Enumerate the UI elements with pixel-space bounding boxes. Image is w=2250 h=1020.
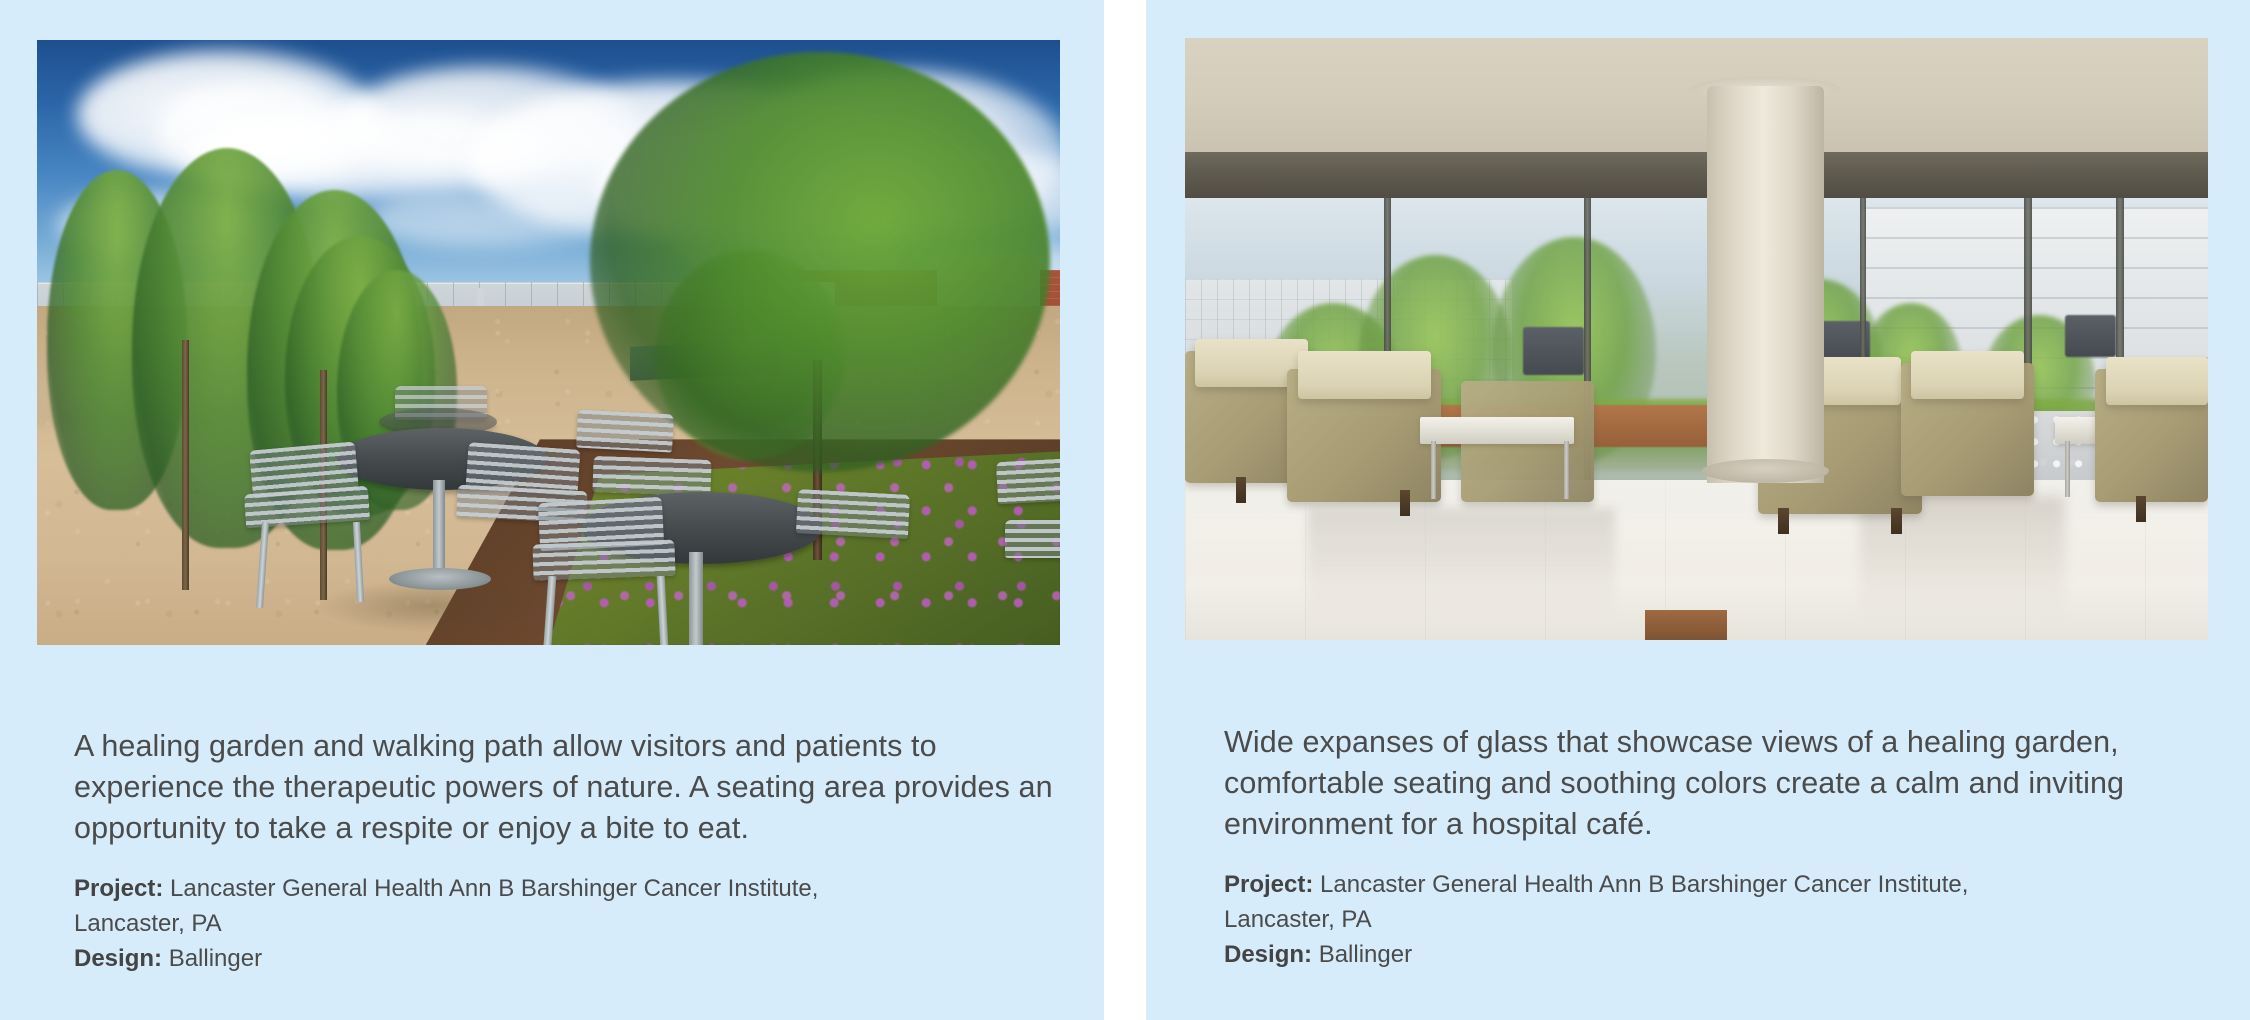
project-label: Project: — [74, 875, 163, 902]
chair-leg — [1236, 477, 1246, 503]
side-table — [1420, 417, 1573, 444]
patio-chair — [592, 456, 711, 496]
photo-healing-garden — [37, 40, 1060, 645]
column-gutter — [1104, 0, 1146, 1020]
table-base — [389, 568, 491, 590]
project-row: Project: Lancaster General Health Ann B … — [74, 871, 1074, 906]
outdoor-chair — [1523, 327, 1584, 375]
design-label: Design: — [1224, 941, 1312, 968]
chair-leg — [1778, 508, 1789, 534]
ceiling — [1185, 38, 2208, 152]
project-credits: Project: Lancaster General Health Ann B … — [74, 871, 1074, 976]
panel-left-inner: A healing garden and walking path allow … — [37, 40, 1060, 645]
project-value: Lancaster General Health Ann B Barshinge… — [170, 875, 818, 902]
design-label: Design: — [74, 945, 162, 972]
soffit-beam — [1185, 152, 2208, 197]
tree — [590, 52, 1050, 472]
caption-right: Wide expanses of glass that showcase vie… — [1224, 722, 2224, 972]
description-text: Wide expanses of glass that showcase vie… — [1224, 722, 2224, 845]
floor-reflection — [1308, 508, 1615, 616]
project-label: Project: — [1224, 871, 1313, 898]
project-value: Lancaster General Health Ann B Barshinge… — [1320, 871, 1968, 898]
structural-column — [1707, 86, 1825, 483]
armchair-cushion — [1911, 351, 2024, 399]
chair-leg — [2136, 496, 2146, 522]
description-text: A healing garden and walking path allow … — [74, 726, 1074, 849]
patio-chair — [796, 489, 910, 539]
table-leg — [1564, 441, 1569, 499]
outdoor-chair — [2065, 315, 2116, 357]
table-pedestal — [689, 552, 703, 645]
project-row: Project: Lancaster General Health Ann B … — [1224, 867, 2224, 902]
panel-right: Wide expanses of glass that showcase vie… — [1146, 0, 2250, 1020]
panel-left: A healing garden and walking path allow … — [0, 0, 1104, 1020]
patio-chair — [1005, 520, 1060, 558]
design-value: Ballinger — [1319, 941, 1412, 968]
table-leg — [1431, 441, 1436, 499]
project-location: Lancaster, PA — [1224, 902, 2224, 937]
project-credits: Project: Lancaster General Health Ann B … — [1224, 867, 2224, 972]
patio-chair — [996, 458, 1060, 504]
design-row: Design: Ballinger — [1224, 937, 2224, 972]
chair-leg — [1891, 508, 1902, 534]
table-leg — [2065, 441, 2070, 497]
patio-chair — [576, 410, 674, 453]
design-value: Ballinger — [169, 945, 262, 972]
caption-left: A healing garden and walking path allow … — [74, 726, 1074, 976]
panel-right-inner: Wide expanses of glass that showcase vie… — [1185, 38, 2208, 640]
project-location: Lancaster, PA — [74, 906, 1074, 941]
armchair-cushion — [1298, 351, 1431, 399]
floor-wood-inlay — [1645, 610, 1727, 640]
table-pedestal — [433, 480, 445, 578]
design-row: Design: Ballinger — [74, 941, 1074, 976]
patio-chair-seat — [532, 540, 675, 581]
chair-leg — [1400, 490, 1410, 516]
photo-hospital-cafe — [1185, 38, 2208, 640]
two-column-photo-caption-board: A healing garden and walking path allow … — [0, 0, 2250, 1020]
cloud — [367, 190, 607, 250]
armchair-cushion — [2106, 357, 2208, 405]
tree-trunk — [182, 340, 189, 590]
